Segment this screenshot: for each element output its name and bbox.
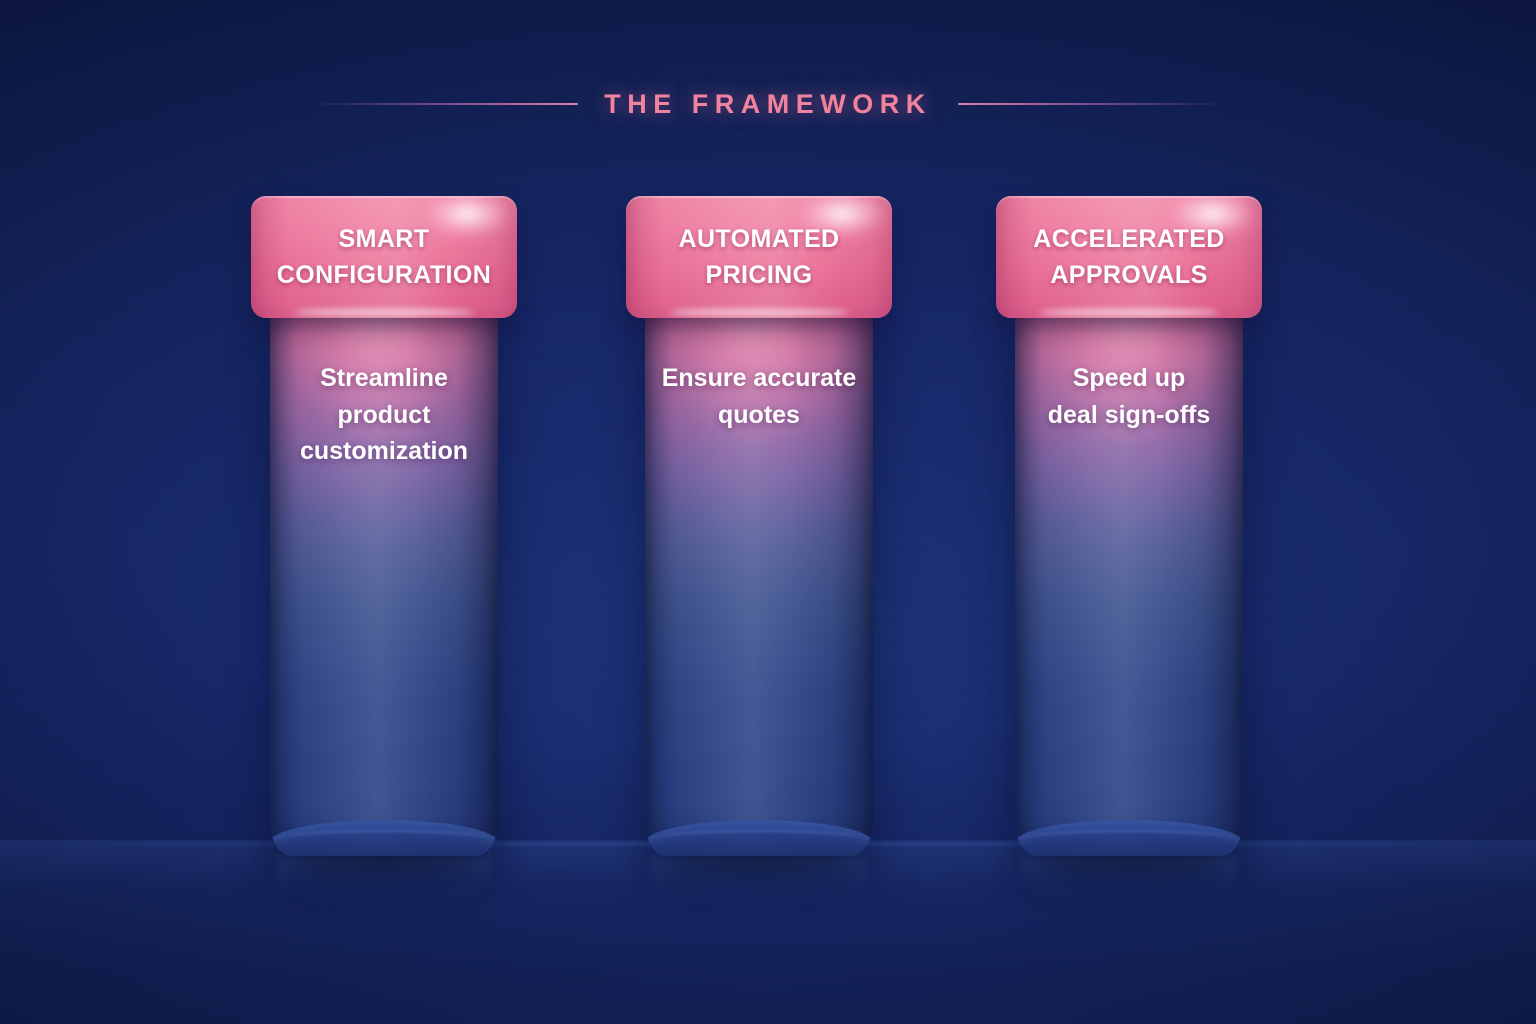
pillar-header-card[interactable]: AUTOMATED PRICING	[626, 196, 892, 318]
pillar-card-smart-configuration[interactable]: Streamline product customization SMART C…	[251, 196, 517, 856]
pillar-body-text: Ensure accurate quotes	[645, 360, 873, 433]
pillar-title-line-1: AUTOMATED	[679, 222, 840, 257]
pillar-body-text: Streamline product customization	[270, 360, 498, 470]
pillar-title: SMART CONFIGURATION	[251, 196, 517, 318]
pillar-shaft: Speed up deal sign-offs	[1015, 308, 1243, 856]
pillar-group: Streamline product customization SMART C…	[0, 0, 1536, 1024]
pillar-base-rim	[1019, 830, 1239, 850]
pillar-card-automated-pricing[interactable]: Ensure accurate quotes AUTOMATED PRICING	[626, 196, 892, 856]
pillar-title-line-2: CONFIGURATION	[277, 258, 491, 293]
pillar-header-card[interactable]: SMART CONFIGURATION	[251, 196, 517, 318]
pillar-floor-reflection	[277, 856, 491, 908]
pillar-title: ACCELERATED APPROVALS	[996, 196, 1262, 318]
pillar-shaft: Streamline product customization	[270, 308, 498, 856]
pillar-shaft: Ensure accurate quotes	[645, 308, 873, 856]
pillar-title: AUTOMATED PRICING	[626, 196, 892, 318]
pillar-title-line-1: SMART	[339, 222, 430, 257]
pillar-title-line-1: ACCELERATED	[1033, 222, 1224, 257]
pillar-header-card[interactable]: ACCELERATED APPROVALS	[996, 196, 1262, 318]
framework-infographic: THE FRAMEWORK Streamline product customi…	[0, 0, 1536, 1024]
pillar-floor-reflection	[652, 856, 866, 908]
pillar-body-text: Speed up deal sign-offs	[1015, 360, 1243, 433]
pillar-card-accelerated-approvals[interactable]: Speed up deal sign-offs ACCELERATED APPR…	[996, 196, 1262, 856]
pillar-base-rim	[274, 830, 494, 850]
pillar-title-line-2: APPROVALS	[1050, 258, 1207, 293]
pillar-floor-reflection	[1022, 856, 1236, 908]
pillar-base-rim	[649, 830, 869, 850]
pillar-title-line-2: PRICING	[706, 258, 813, 293]
